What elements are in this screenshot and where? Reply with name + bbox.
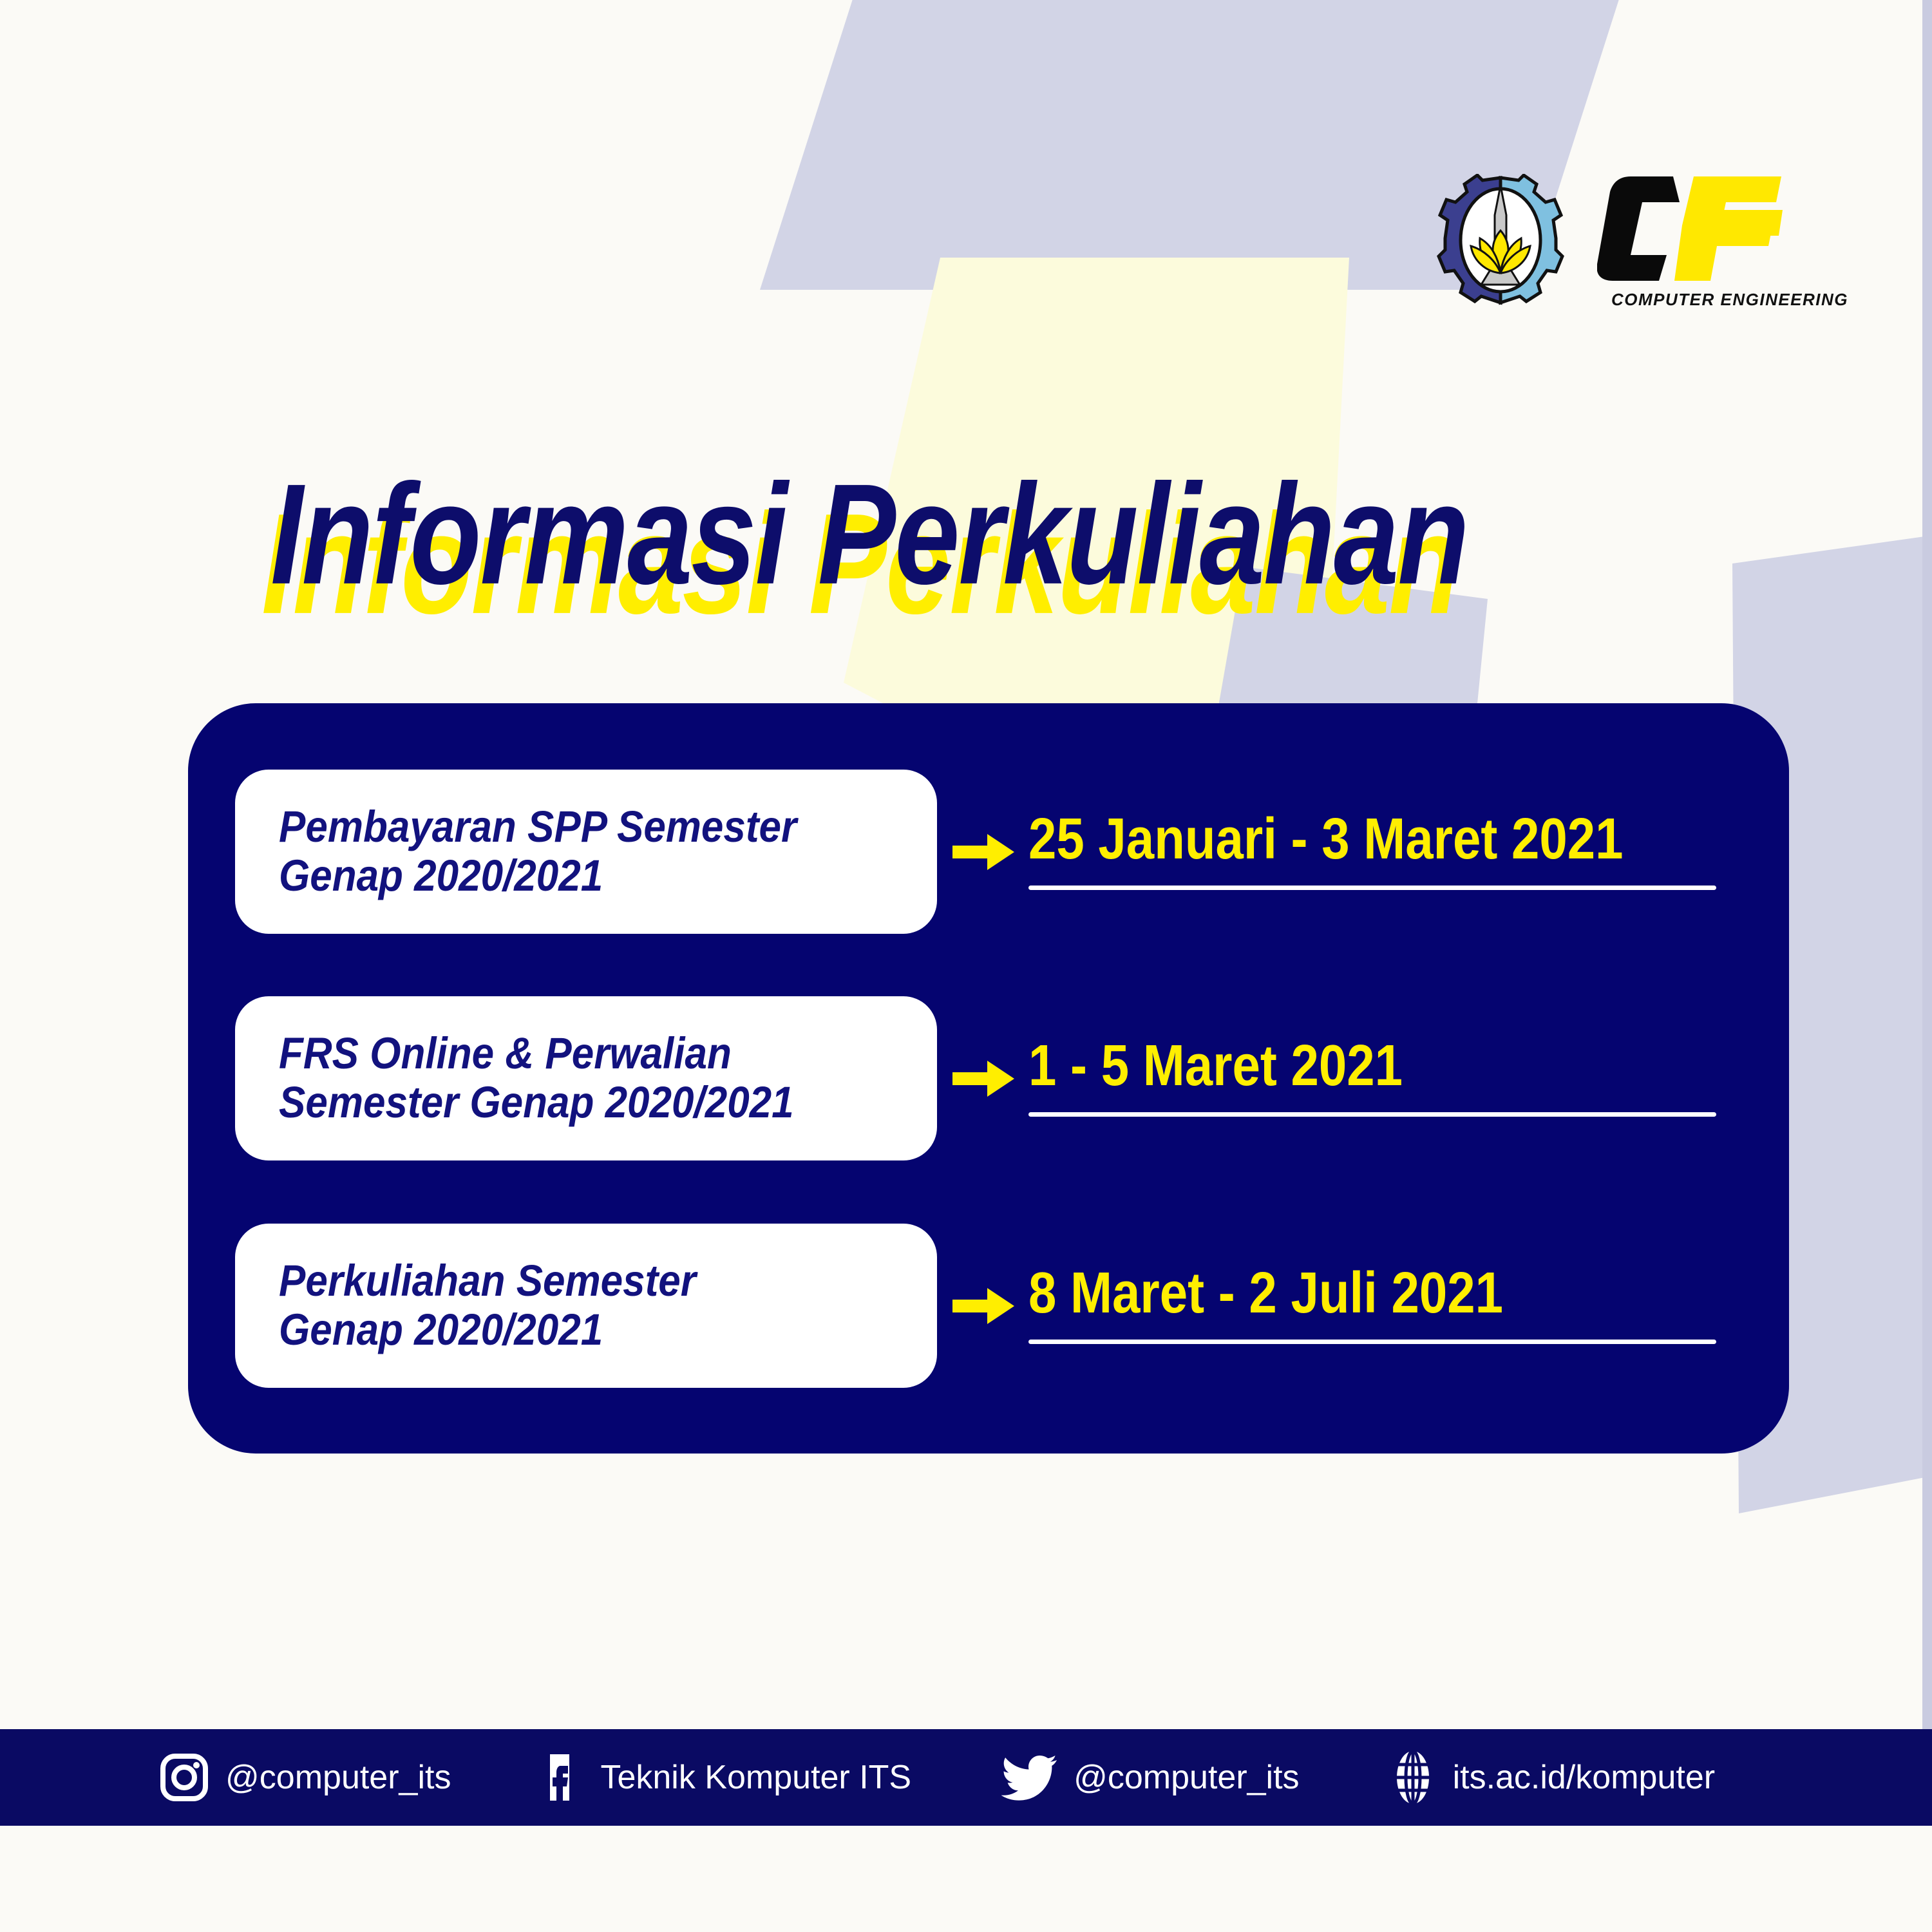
ce-logo-wrapper: COMPUTER ENGINEERING xyxy=(1597,174,1790,310)
arrow-right-icon xyxy=(952,833,1014,871)
schedule-date-block: 1 - 5 Maret 2021 xyxy=(1028,996,1730,1160)
schedule-label-card: Pembayaran SPP Semester Genap 2020/2021 xyxy=(235,770,937,934)
schedule-label-line2: Genap 2020/2021 xyxy=(279,849,937,903)
schedule-label-line2: Genap 2020/2021 xyxy=(279,1303,937,1357)
schedule-date-underline xyxy=(1028,1340,1716,1344)
schedule-label-line1: Perkuliahan Semester xyxy=(279,1255,937,1308)
right-edge-strip xyxy=(1922,0,1932,1732)
schedule-panel: Pembayaran SPP Semester Genap 2020/2021 … xyxy=(188,703,1789,1454)
schedule-date: 8 Maret - 2 Juli 2021 xyxy=(1028,1264,1730,1321)
twitter-icon xyxy=(1001,1753,1057,1802)
ce-computer-engineering-logo xyxy=(1597,174,1784,283)
globe-icon xyxy=(1390,1749,1436,1806)
arrow-right-icon xyxy=(952,1287,1014,1325)
facebook-icon xyxy=(535,1753,583,1802)
ce-logo-subtitle: COMPUTER ENGINEERING xyxy=(1611,290,1848,310)
social-footer-bar: @computer_its Teknik Komputer ITS @compu… xyxy=(0,1729,1932,1826)
page-title: Informasi Perkuliahan Informasi Perkulia… xyxy=(270,462,1752,636)
logo-row: COMPUTER ENGINEERING xyxy=(1436,174,1790,312)
schedule-row: FRS Online & Perwalian Semester Genap 20… xyxy=(188,996,1730,1160)
schedule-date-block: 8 Maret - 2 Juli 2021 xyxy=(1028,1224,1730,1388)
social-handle: @computer_its xyxy=(1074,1758,1299,1797)
schedule-label-line2: Semester Genap 2020/2021 xyxy=(279,1076,937,1130)
schedule-label-line1: FRS Online & Perwalian xyxy=(279,1027,937,1081)
social-item-facebook[interactable]: Teknik Komputer ITS xyxy=(535,1753,911,1802)
schedule-label-card: FRS Online & Perwalian Semester Genap 20… xyxy=(235,996,937,1160)
schedule-label-line1: Pembayaran SPP Semester xyxy=(279,800,937,854)
social-handle: its.ac.id/komputer xyxy=(1453,1758,1716,1797)
social-handle: Teknik Komputer ITS xyxy=(600,1758,911,1797)
its-gear-lotus-logo xyxy=(1436,174,1565,312)
schedule-date-underline xyxy=(1028,885,1716,890)
schedule-date: 1 - 5 Maret 2021 xyxy=(1028,1036,1730,1094)
schedule-date-underline xyxy=(1028,1112,1716,1117)
schedule-date-block: 25 Januari - 3 Maret 2021 xyxy=(1028,770,1730,934)
arrow-right-icon xyxy=(952,1059,1014,1098)
schedule-date: 25 Januari - 3 Maret 2021 xyxy=(1028,810,1730,867)
schedule-label-card: Perkuliahan Semester Genap 2020/2021 xyxy=(235,1224,937,1388)
instagram-icon xyxy=(160,1753,209,1802)
social-item-instagram[interactable]: @computer_its xyxy=(160,1753,451,1802)
social-handle: @computer_its xyxy=(225,1758,451,1797)
poster-canvas: COMPUTER ENGINEERING Informasi Perkuliah… xyxy=(0,0,1932,1932)
page-title-text: Informasi Perkuliahan xyxy=(270,462,1468,605)
schedule-row: Pembayaran SPP Semester Genap 2020/2021 … xyxy=(188,770,1730,934)
social-item-twitter[interactable]: @computer_its xyxy=(1001,1753,1299,1802)
schedule-row: Perkuliahan Semester Genap 2020/2021 8 M… xyxy=(188,1224,1730,1388)
social-item-website[interactable]: its.ac.id/komputer xyxy=(1390,1749,1716,1806)
